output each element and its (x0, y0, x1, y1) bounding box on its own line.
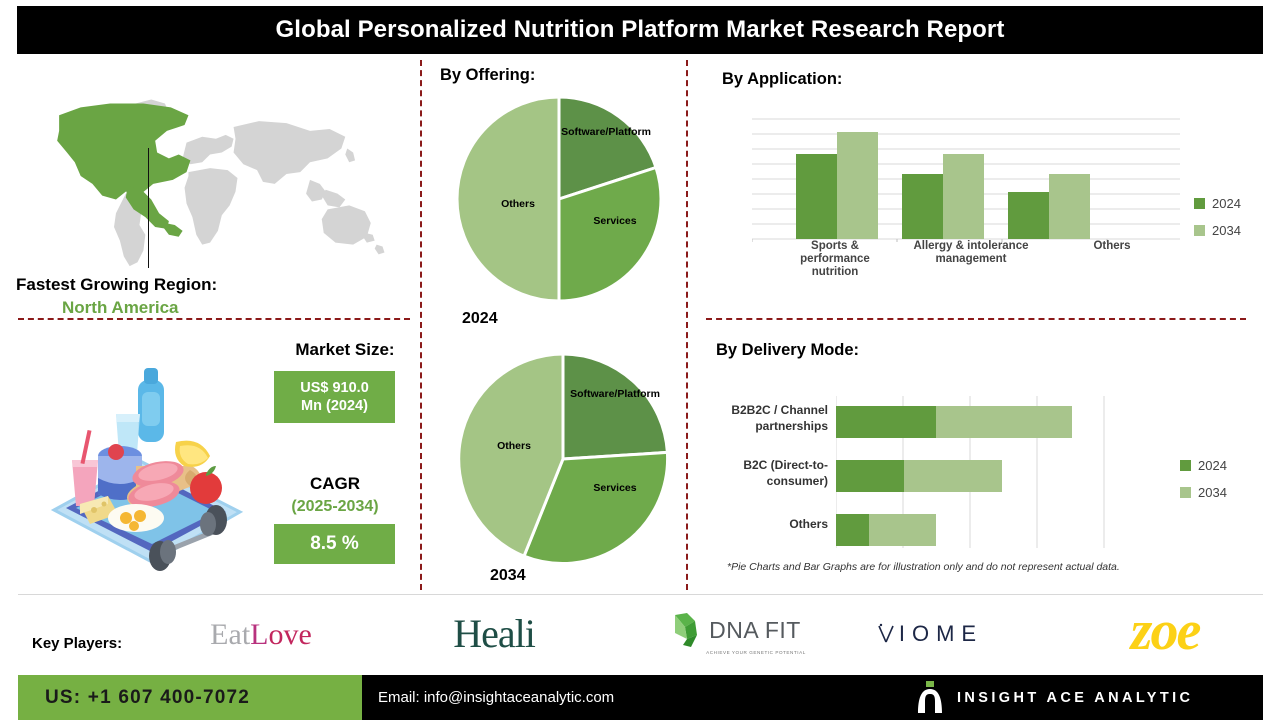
pie-2024-year: 2024 (462, 310, 498, 328)
cagr-label: CAGR (275, 474, 395, 494)
legend-item-2034: 2034 (1194, 223, 1241, 238)
logo-viome-text: IOME (899, 621, 983, 647)
divider-keyplayers (18, 594, 1263, 595)
fastest-region-label: Fastest Growing Region: (16, 275, 217, 295)
logo-dnafit-text: DNA FIT (709, 617, 801, 644)
footer-email: Email: info@insightaceanalytic.com (378, 689, 614, 706)
insightace-a-icon (917, 681, 943, 715)
pie-2034-year: 2034 (490, 567, 526, 585)
logo-eatlove: EatLove (186, 614, 336, 656)
bar-chart-application (752, 112, 1182, 242)
page-title: Global Personalized Nutrition Platform M… (276, 16, 1005, 44)
divider-vertical-left (420, 60, 422, 590)
pie-2034-label-services: Services (577, 482, 653, 495)
bar-chart-delivery (836, 396, 1106, 548)
bar-application-cat-0: Sports & performance nutrition (780, 240, 890, 279)
divider-horizontal-right (706, 318, 1246, 320)
section-title-offering: By Offering: (440, 66, 535, 85)
pie-2024-label-software: Software/Platform (556, 126, 656, 139)
map-leader-line (148, 148, 149, 268)
logo-eatlove-part2: L (250, 618, 268, 652)
legend-item-delivery-2024: 2024 (1180, 458, 1227, 473)
market-size-label: Market Size: (280, 340, 410, 360)
section-title-application: By Application: (722, 70, 842, 89)
chart-disclaimer: *Pie Charts and Bar Graphs are for illus… (727, 561, 1120, 573)
bar-application-cat-2: Others (1062, 240, 1162, 253)
logo-dnafit-tagline: ACHIEVE YOUR GENETIC POTENTIAL (706, 650, 806, 655)
logo-viome: IOME (850, 614, 1010, 654)
bar-application-cat-1: Allergy & intolerance management (896, 240, 1046, 266)
legend-swatch-delivery-2034 (1180, 487, 1191, 498)
market-size-value-line1: US$ 910.0 (300, 379, 369, 397)
bar-delivery-cat-2: Others (704, 516, 828, 532)
legend-delivery: 2024 2034 (1180, 458, 1227, 512)
divider-vertical-right (686, 60, 688, 590)
cagr-years: (2025-2034) (266, 498, 404, 516)
logo-eatlove-part1: Eat (210, 618, 250, 652)
pie-2034-label-software: Software/Platform (565, 388, 665, 401)
header-bar: Global Personalized Nutrition Platform M… (17, 6, 1263, 54)
legend-swatch-delivery-2024 (1180, 460, 1191, 471)
key-players-label: Key Players: (32, 635, 122, 652)
logo-heali: Heali (414, 610, 574, 656)
legend-application: 2024 2034 (1194, 196, 1241, 250)
fastest-region-value: North America (62, 298, 179, 318)
legend-swatch-2024 (1194, 198, 1205, 209)
footer-phone-bar: US: +1 607 400-7072 (18, 675, 362, 720)
cagr-box: 8.5 % (274, 524, 395, 564)
brand-logo: INSIGHT ACE ANALYTIC (917, 681, 1193, 715)
logo-heali-text: Heali (453, 610, 535, 657)
pie-2024-label-services: Services (577, 215, 653, 228)
footer-phone: US: +1 607 400-7072 (45, 687, 250, 709)
legend-label-2034: 2034 (1212, 223, 1241, 238)
legend-label-delivery-2034: 2034 (1198, 485, 1227, 500)
dna-crystal-icon (669, 611, 703, 649)
legend-swatch-2034 (1194, 225, 1205, 236)
market-size-value-line2: Mn (2024) (301, 397, 368, 415)
viome-v-icon (877, 623, 897, 645)
nutrition-tray-icon (32, 352, 264, 584)
bar-delivery-cat-1: B2C (Direct-to-consumer) (704, 457, 828, 489)
legend-label-2024: 2024 (1212, 196, 1241, 211)
pie-chart-offering-2034 (452, 348, 674, 570)
pie-2024-label-others: Others (482, 198, 554, 211)
logo-zoe-text: zoe (1131, 599, 1200, 663)
legend-item-2024: 2024 (1194, 196, 1241, 211)
logo-dnafit: DNA FIT ACHIEVE YOUR GENETIC POTENTIAL (645, 608, 825, 658)
divider-horizontal-left (18, 318, 410, 320)
legend-label-delivery-2024: 2024 (1198, 458, 1227, 473)
cagr-value: 8.5 % (310, 533, 359, 555)
logo-zoe: zoe (1090, 604, 1240, 658)
world-map-icon (14, 78, 410, 274)
infographic-page: Global Personalized Nutrition Platform M… (0, 0, 1280, 720)
section-title-delivery: By Delivery Mode: (716, 341, 859, 360)
footer-bar: Email: info@insightaceanalytic.com INSIG… (362, 675, 1263, 720)
legend-item-delivery-2034: 2034 (1180, 485, 1227, 500)
bar-delivery-cat-0: B2B2C / Channel partnerships (704, 402, 828, 434)
market-size-box: US$ 910.0 Mn (2024) (274, 371, 395, 423)
brand-name: INSIGHT ACE ANALYTIC (957, 690, 1193, 706)
pie-2034-label-others: Others (478, 440, 550, 453)
